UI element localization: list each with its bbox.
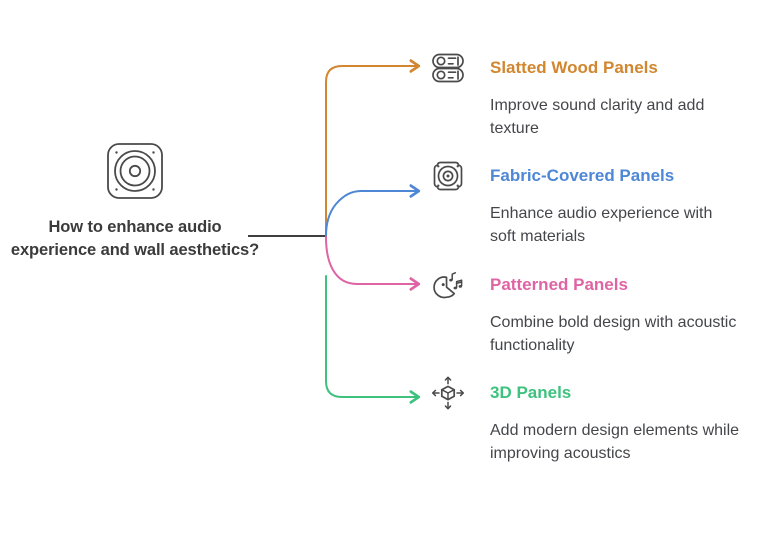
branch-description: Combine bold design with acoustic functi… [490,312,742,357]
face-music-notes-icon [428,265,468,305]
branch-title: Slatted Wood Panels [490,58,658,78]
branch-header: Fabric-Covered Panels [428,156,758,196]
branch-description: Enhance audio experience with soft mater… [490,203,742,248]
central-question-label: How to enhance audio experience and wall… [10,216,260,262]
branch-title: Fabric-Covered Panels [490,166,674,186]
speaker-driver-icon [428,156,468,196]
mind-map-diagram: How to enhance audio experience and wall… [0,0,768,539]
cube-arrows-icon [428,373,468,413]
branch-3d-panels: 3D Panels Add modern design elements whi… [428,373,758,465]
slatted-panels-icon [428,48,468,88]
branch-header: Slatted Wood Panels [428,48,758,88]
central-node: How to enhance audio experience and wall… [10,140,260,262]
branch-title: Patterned Panels [490,275,628,295]
branch-title: 3D Panels [490,383,571,403]
branch-description: Add modern design elements while improvi… [490,420,742,465]
connector-branch-fabric-covered-panels [326,191,418,236]
connector-branch-patterned-panels [326,237,418,284]
branch-patterned-panels: Patterned Panels Combine bold design wit… [428,265,758,357]
connector-branch-slatted-wood-panels [326,66,418,236]
branch-slatted-wood-panels: Slatted Wood Panels Improve sound clarit… [428,48,758,140]
branch-header: 3D Panels [428,373,758,413]
branch-fabric-covered-panels: Fabric-Covered Panels Enhance audio expe… [428,156,758,248]
branch-description: Improve sound clarity and add texture [490,95,742,140]
branch-header: Patterned Panels [428,265,758,305]
speaker-square-icon [104,140,166,202]
connector-branch-3d-panels [326,276,418,397]
